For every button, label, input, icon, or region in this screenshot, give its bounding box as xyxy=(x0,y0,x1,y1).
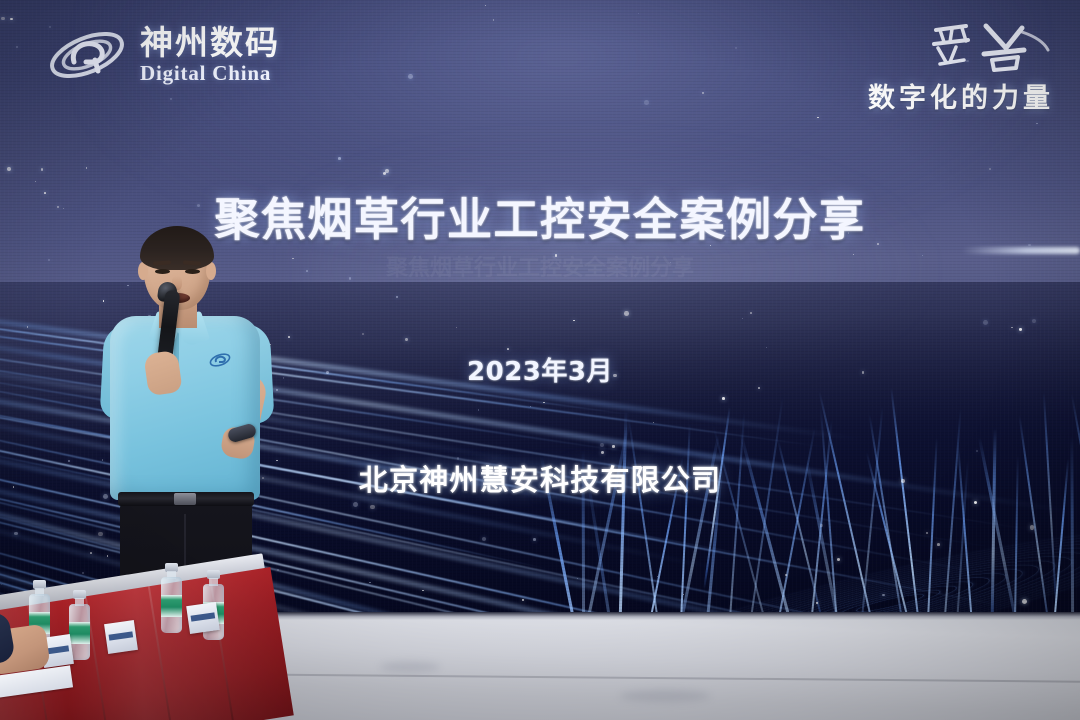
bottle-label xyxy=(69,622,90,644)
belt-buckle xyxy=(174,493,196,505)
digital-china-chinese: 神州数码 xyxy=(140,26,280,59)
digital-china-wordmark: 神州数码 Digital China xyxy=(140,26,280,84)
presenter-hair xyxy=(140,226,214,270)
juhe-subtitle: 数字化的力量 xyxy=(868,76,1054,115)
presenter-eye-left xyxy=(155,269,170,274)
name-card xyxy=(186,602,220,634)
company-badge-icon xyxy=(208,350,232,370)
floor-scuff xyxy=(380,662,440,672)
bottle-label xyxy=(161,595,182,617)
digital-china-logo: 神州数码 Digital China xyxy=(46,22,280,88)
seated-attendee xyxy=(0,618,58,720)
floor-scuff xyxy=(620,690,710,702)
juhe-calligraphy-icon xyxy=(926,18,1054,80)
digital-china-english: Digital China xyxy=(140,63,280,84)
presenter-polo-shirt xyxy=(110,316,260,500)
screen-edge-streak xyxy=(962,247,1080,254)
presenter-eye-right xyxy=(185,269,200,274)
name-card xyxy=(104,620,138,654)
swirl-galaxy-icon xyxy=(46,22,128,88)
name-card-strip xyxy=(191,612,216,621)
screenshot-stage: 聚焦烟草行业工控安全案例分享 神州数码 Digital China xyxy=(0,0,1080,720)
name-card-strip xyxy=(108,631,133,641)
juhe-logo: 数字化的力量 xyxy=(868,18,1054,115)
